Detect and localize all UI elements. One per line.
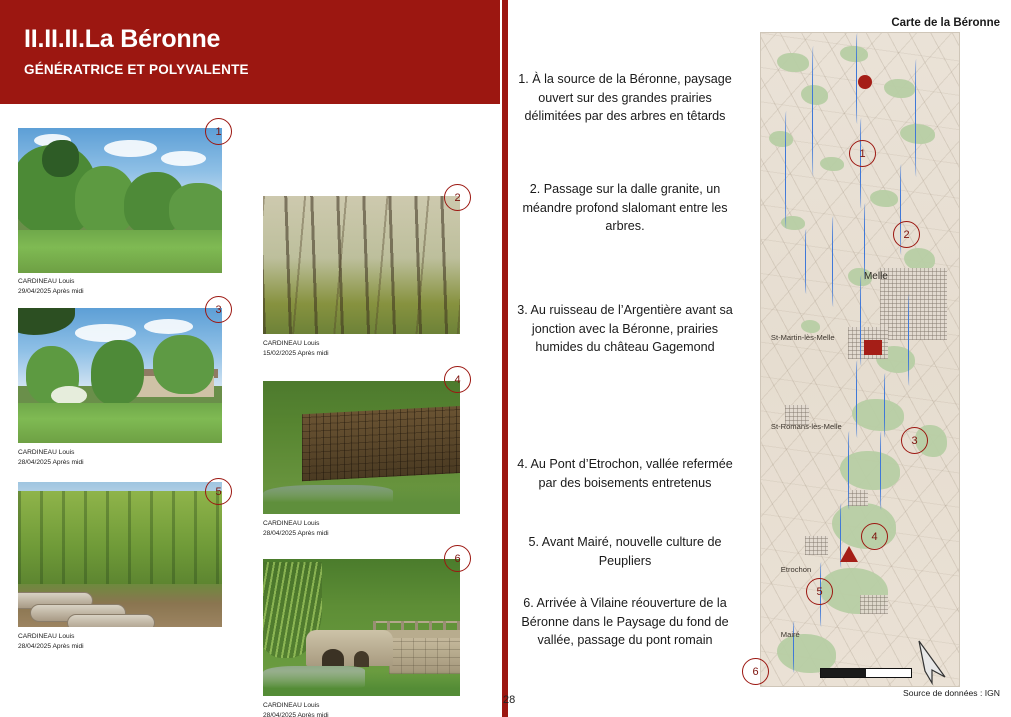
urban-area <box>860 595 888 615</box>
photo-block-2: CARDINEAU Louis 15/02/2025 Après midi <box>263 196 460 334</box>
vegetation-foreground <box>263 671 460 696</box>
urban-area <box>805 536 829 556</box>
map-label-etrochon: Etrochon <box>781 565 811 574</box>
woodpile-shape <box>302 406 460 481</box>
map-marker-1[interactable]: 1 <box>849 140 876 167</box>
photo-credit: CARDINEAU Louis <box>18 277 84 287</box>
map-label-melle: Melle <box>864 271 888 282</box>
map-marker-2[interactable]: 2 <box>893 221 920 248</box>
photo-date: 28/04/2025 Après midi <box>18 642 84 652</box>
woodland-patch <box>781 216 805 230</box>
map-scale-bar <box>820 668 912 678</box>
photo-block-5: CARDINEAU Louis 28/04/2025 Après midi <box>18 482 222 627</box>
photo-badge-4[interactable]: 4 <box>444 366 471 393</box>
description-item-2: 2. Passage sur la dalle granite, un méan… <box>512 180 738 236</box>
photo-badge-6[interactable]: 6 <box>444 545 471 572</box>
description-item-6: 6. Arrivée à Vilaine réouverture de la B… <box>512 594 738 650</box>
river-line <box>793 621 796 673</box>
photo-credit: CARDINEAU Louis <box>18 632 84 642</box>
north-arrow-icon <box>915 637 949 685</box>
tree-trunks <box>263 196 460 334</box>
stone-wall <box>389 638 460 674</box>
map-source-note: Source de données : IGN <box>760 688 1000 698</box>
map-marker-6[interactable]: 6 <box>742 658 769 685</box>
river-line <box>856 360 859 438</box>
photo-block-1: CARDINEAU Louis 29/04/2025 Après midi <box>18 128 222 273</box>
woodland-patch <box>777 53 809 73</box>
photo-caption-5: CARDINEAU Louis 28/04/2025 Après midi <box>18 632 84 651</box>
photo-badge-2[interactable]: 2 <box>444 184 471 211</box>
photo-date: 28/04/2025 Après midi <box>263 711 329 717</box>
vegetation-foreground <box>263 485 460 514</box>
poplar-canopy <box>18 491 222 587</box>
river-line <box>884 373 887 438</box>
photo-date: 28/04/2025 Après midi <box>263 529 329 539</box>
photo-caption-6: CARDINEAU Louis 28/04/2025 Après midi <box>263 701 329 717</box>
tree-shape <box>153 335 214 394</box>
river-line <box>805 229 808 294</box>
description-item-5: 5. Avant Mairé, nouvelle culture de Peup… <box>512 533 738 570</box>
photo-date: 15/02/2025 Après midi <box>263 349 329 359</box>
river-line <box>908 294 911 385</box>
photo-block-3: CARDINEAU Louis 28/04/2025 Après midi <box>18 308 222 443</box>
photo-caption-2: CARDINEAU Louis 15/02/2025 Après midi <box>263 339 329 358</box>
page-number: 28 <box>503 694 515 706</box>
photo-image-2[interactable] <box>263 196 460 334</box>
urban-area <box>848 490 868 506</box>
map-marker-4[interactable]: 4 <box>861 523 888 550</box>
map-label-maire: Mairé <box>781 630 800 639</box>
river-line <box>864 203 867 281</box>
cloud-shape <box>75 324 136 342</box>
description-column: 1. À la source de la Béronne, paysage ou… <box>512 0 738 717</box>
photo-badge-1[interactable]: 1 <box>205 118 232 145</box>
description-item-1: 1. À la source de la Béronne, paysage ou… <box>512 70 738 126</box>
photo-credit: CARDINEAU Louis <box>263 519 329 529</box>
photo-block-6: CARDINEAU Louis 28/04/2025 Après midi <box>263 559 460 696</box>
cloud-shape <box>161 151 206 166</box>
site-marker-triangle <box>840 546 858 562</box>
scale-bar-fill <box>821 669 866 677</box>
river-line <box>880 431 883 509</box>
river-line <box>848 431 851 509</box>
photo-caption-1: CARDINEAU Louis 29/04/2025 Après midi <box>18 277 84 296</box>
photo-credit: CARDINEAU Louis <box>263 339 329 349</box>
photo-image-1[interactable] <box>18 128 222 273</box>
photo-block-4: CARDINEAU Louis 28/04/2025 Après midi <box>263 381 460 514</box>
map-marker-5[interactable]: 5 <box>806 578 833 605</box>
description-item-3: 3. Au ruisseau de l’Argentière avant sa … <box>512 301 738 357</box>
page-subtitle: GÉNÉRATRICE ET POLYVALENTE <box>24 62 249 77</box>
woodland-patch <box>769 131 793 147</box>
map-title: Carte de la Béronne <box>760 17 1000 29</box>
description-item-4: 4. Au Pont d’Etrochon, vallée refermée p… <box>512 455 738 492</box>
river-line <box>860 275 863 366</box>
roman-bridge <box>306 630 393 666</box>
woodland-patch <box>870 190 898 207</box>
tree-shape <box>91 340 144 405</box>
slide-root: II.II.II.La Béronne GÉNÉRATRICE ET POLYV… <box>0 0 1011 717</box>
cloud-shape <box>104 140 157 157</box>
meadow-shape <box>18 403 222 444</box>
photo-image-6[interactable] <box>263 559 460 696</box>
photo-caption-3: CARDINEAU Louis 28/04/2025 Après midi <box>18 448 84 467</box>
log-shape <box>67 614 155 627</box>
bridge-arch <box>354 651 370 667</box>
urban-area <box>880 268 947 340</box>
photo-image-3[interactable] <box>18 308 222 443</box>
photo-badge-3[interactable]: 3 <box>205 296 232 323</box>
cloud-shape <box>144 319 193 334</box>
photo-image-5[interactable] <box>18 482 222 627</box>
map-label-st-romans: St-Romans-lès-Melle <box>771 422 842 431</box>
map-marker-3[interactable]: 3 <box>901 427 928 454</box>
vertical-divider <box>502 0 508 717</box>
meadow-shape <box>18 230 222 274</box>
photo-credit: CARDINEAU Louis <box>263 701 329 711</box>
map-canvas[interactable]: Melle St-Martin-lès-Melle St-Romans-lès-… <box>760 32 960 687</box>
photo-date: 28/04/2025 Après midi <box>18 458 84 468</box>
photo-caption-4: CARDINEAU Louis 28/04/2025 Après midi <box>263 519 329 538</box>
photo-date: 29/04/2025 Après midi <box>18 287 84 297</box>
river-line <box>785 111 788 229</box>
tree-shape <box>42 140 79 178</box>
map-label-st-martin: St-Martin-lès-Melle <box>771 333 835 342</box>
header-banner: II.II.II.La Béronne GÉNÉRATRICE ET POLYV… <box>0 0 500 104</box>
photo-badge-5[interactable]: 5 <box>205 478 232 505</box>
photo-image-4[interactable] <box>263 381 460 514</box>
photo-credit: CARDINEAU Louis <box>18 448 84 458</box>
site-marker-square <box>864 340 882 355</box>
page-title: II.II.II.La Béronne <box>24 25 220 54</box>
woodland-patch <box>820 157 844 171</box>
